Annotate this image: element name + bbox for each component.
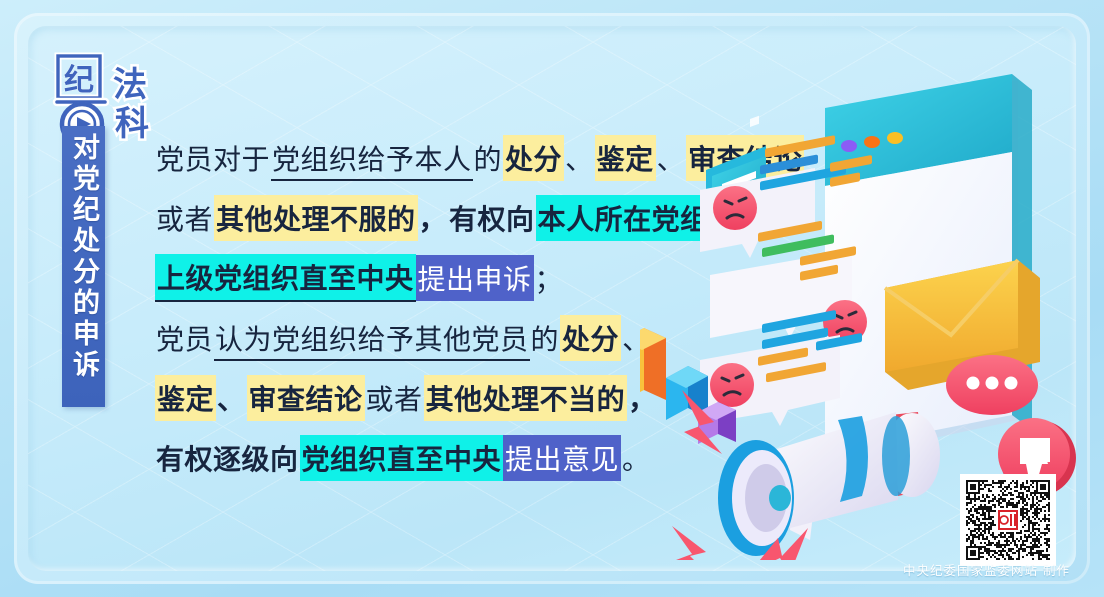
text-segment-yellow: 处分: [503, 135, 564, 181]
text-segment-plain: 、: [564, 136, 595, 180]
text-segment-underline: 认为党组织给予其他党员: [214, 316, 530, 361]
text-segment-plain: 的: [530, 316, 561, 360]
text-segment-bold: 有权逐级向: [155, 436, 300, 480]
svg-text:科: 科: [115, 104, 149, 144]
vertical-title-banner: 对党纪处分的申诉: [62, 126, 105, 407]
text-segment-bold: 、: [216, 376, 247, 420]
qr-center-logo: [998, 510, 1018, 530]
svg-text:纪: 纪: [64, 63, 94, 98]
text-segment-bold: 有权向: [448, 196, 536, 240]
text-segment-plain: 或者: [365, 376, 424, 420]
qr-canvas: [964, 478, 1052, 562]
text-segment-bold: ，: [418, 196, 449, 240]
ellipsis-bubble-icon: [946, 355, 1038, 415]
text-segment-blue: 提出意见: [503, 435, 621, 481]
angry-face-icon: [713, 186, 757, 230]
angry-face-icon-3: [710, 363, 754, 407]
window-dot-yellow: [887, 132, 903, 144]
text-segment-blue: 提出申诉: [416, 255, 534, 301]
infographic-canvas: 纪 法 科 对党纪处分的申诉 党员对于党组织给予本人的处分、鉴定、审查结论或者其…: [0, 0, 1104, 597]
window-dot-purple: [841, 140, 857, 152]
text-segment-yellow: 其他处理不当的: [424, 375, 628, 421]
text-segment-plain: ；: [534, 256, 565, 300]
svg-text:法: 法: [113, 65, 147, 105]
text-segment-yellow: 审查结论: [247, 375, 365, 421]
text-segment-yellow: 其他处理不服的: [214, 195, 418, 241]
text-segment-yellow: 鉴定: [155, 375, 216, 421]
text-segment-cyan-underline: 上级党组织直至中央: [155, 254, 416, 302]
banner-title: 对党纪处分的申诉: [68, 133, 99, 381]
footer-credit: 中央纪委国家监委网站 制作: [903, 560, 1070, 579]
text-segment-plain: 党员: [155, 316, 214, 360]
text-segment-plain: 的: [473, 136, 504, 180]
text-segment-plain: 党员对于: [155, 136, 271, 180]
wechat-qr-code[interactable]: [960, 474, 1056, 566]
text-segment-plain: 或者: [155, 196, 214, 240]
window-dot-orange: [864, 136, 880, 148]
text-segment-yellow: 处分: [560, 315, 621, 361]
text-segment-underline: 党组织给予本人: [271, 136, 473, 181]
text-segment-cyan: 党组织直至中央: [300, 435, 504, 481]
